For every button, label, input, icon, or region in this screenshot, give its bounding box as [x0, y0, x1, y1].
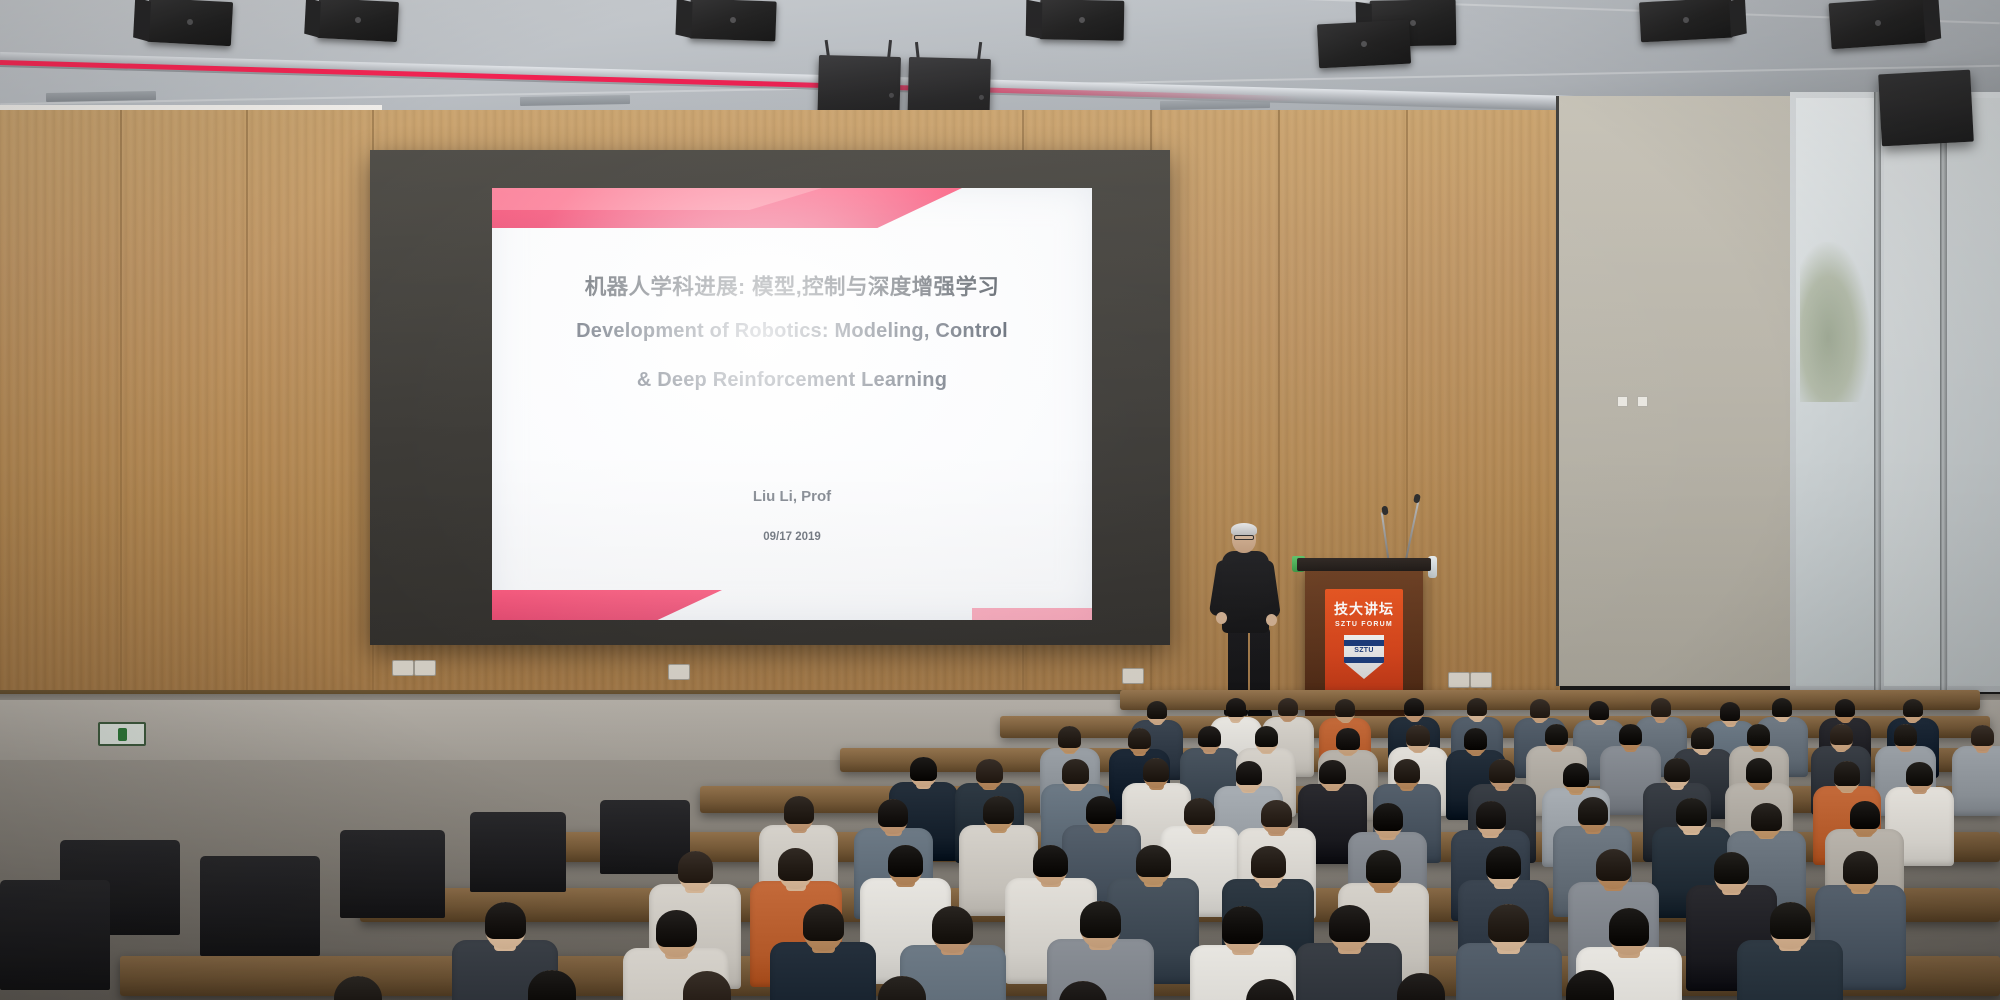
stage-light-fixture: [1317, 20, 1411, 69]
audience-member-hair: [1080, 901, 1121, 939]
audience-member-hair: [1486, 846, 1521, 878]
slide-title-english-1: Development of Robotics: Modeling, Contr…: [492, 320, 1092, 343]
stage-light-fixture: [1040, 0, 1125, 41]
shield-text: SZTU: [1344, 647, 1384, 654]
wall-outlet[interactable]: [392, 660, 414, 676]
audience-member-hair: [983, 796, 1013, 824]
audience-member: [1359, 973, 1484, 1000]
audience-member-hair: [1834, 761, 1860, 785]
auditorium-seat[interactable]: [340, 830, 445, 918]
audience-member-hair: [932, 906, 973, 944]
audience-member-hair: [1136, 845, 1171, 877]
slide-presenter: Liu Li, Prof: [492, 488, 1092, 505]
audience-member-hair: [528, 970, 576, 1000]
audience-member-hair: [1489, 759, 1515, 783]
audience-member-hair: [1394, 759, 1420, 783]
audience-member-hair: [1850, 801, 1880, 829]
audience-member-hair: [1563, 763, 1589, 787]
presentation-slide: 机器人学科进展: 模型,控制与深度增强学习 Development of Rob…: [492, 188, 1092, 620]
audience-member-hair: [656, 910, 697, 948]
audience-member-hair: [1464, 728, 1487, 749]
audience-member-hair: [1373, 803, 1403, 831]
audience-member-hair: [1751, 803, 1781, 831]
audience-member-hair: [784, 796, 814, 824]
audience-member-hair: [1406, 725, 1429, 746]
audience-member-hair: [1903, 699, 1923, 717]
audience-member-hair: [678, 851, 713, 883]
stage-light-fixture: [1639, 0, 1733, 42]
audience-member-hair: [910, 757, 936, 781]
presenter-glasses: [1234, 535, 1254, 540]
audience-member-hair: [1651, 698, 1671, 716]
wall-right-acoustic-panel: [1556, 96, 1792, 686]
audience-member-hair: [1476, 801, 1506, 829]
audience-member-hair: [1058, 726, 1081, 747]
audience-member-hair: [1906, 762, 1932, 786]
ceiling-vent: [520, 95, 630, 106]
audience-member-hair: [1566, 970, 1614, 1000]
stage-light-fixture: [317, 0, 399, 42]
audience-member-hair: [1843, 851, 1878, 883]
window-bay: [1790, 92, 2000, 692]
microphone-head: [1381, 506, 1388, 516]
audience-member-hair: [1691, 727, 1714, 748]
audience-member-hair: [1222, 906, 1263, 944]
audience-member-hair: [1830, 724, 1853, 745]
audience-member: [644, 971, 769, 1000]
lecture-hall-photo: 机器人学科进展: 模型,控制与深度增强学习 Development of Rob…: [0, 0, 2000, 1000]
audience-member: [1952, 725, 2000, 821]
audience-member-hair: [1404, 698, 1424, 716]
stage-light-fixture: [689, 0, 776, 41]
audience-member-hair: [1596, 849, 1631, 881]
presenter-hand: [1266, 614, 1277, 626]
audience-member-hair: [888, 845, 923, 877]
audience-member-hair: [1720, 702, 1740, 720]
slide-date: 09/17 2019: [492, 531, 1092, 543]
audience-member-hair: [1835, 699, 1855, 717]
audience-member-hair: [1184, 798, 1214, 826]
ceiling-vent: [46, 91, 156, 102]
presenter-torso: [1222, 551, 1269, 633]
audience-member-hair: [1770, 902, 1811, 940]
wall-switch-plate[interactable]: [1617, 396, 1648, 407]
audience-member: [1020, 981, 1145, 1000]
audience-member-hair: [1336, 728, 1359, 749]
audience-member-hair: [976, 759, 1002, 783]
auditorium-seat[interactable]: [200, 856, 320, 956]
window-glass: [1948, 98, 2000, 686]
audience-member-hair: [683, 971, 731, 1000]
audience-member-hair: [1971, 725, 1994, 746]
audience-member-hair: [485, 902, 526, 940]
wall-outlet[interactable]: [414, 660, 436, 676]
window-mullion: [1874, 92, 1881, 692]
audience-member-hair: [1329, 905, 1370, 943]
wall-outlet[interactable]: [1470, 672, 1492, 688]
podium-sign-english: SZTU FORUM: [1325, 621, 1403, 628]
audience-member: [489, 970, 614, 1000]
audience-member-hair: [1589, 701, 1609, 719]
window-glass: [1884, 98, 1940, 686]
audience-member-hair: [1033, 845, 1068, 877]
audience-member-hair: [1366, 850, 1401, 882]
audience-member-hair: [1147, 701, 1167, 719]
projection-screen-frame: 机器人学科进展: 模型,控制与深度增强学习 Development of Rob…: [370, 150, 1170, 645]
audience-member-hair: [1319, 760, 1345, 784]
audience-member-hair: [1255, 726, 1278, 747]
slide-title-english-2: & Deep Reinforcement Learning: [492, 369, 1092, 392]
audience-member-hair: [778, 848, 813, 880]
audience-member-hair: [1619, 724, 1642, 745]
audience-member-hair: [1246, 979, 1294, 1000]
wall-outlet[interactable]: [1122, 668, 1144, 684]
audience-member-hair: [1664, 758, 1690, 782]
audience-member: [296, 976, 421, 1000]
audience-member-hair: [1676, 798, 1706, 826]
audience-member-hair: [1894, 724, 1917, 745]
window-mullion: [1940, 92, 1947, 692]
audience-member-hair: [1467, 698, 1487, 716]
audience-member-hair: [1128, 728, 1151, 749]
podium-sign: 技大讲坛 SZTU FORUM SZTU: [1325, 589, 1403, 697]
audience-member-hair: [1609, 908, 1650, 946]
audience-member-hair: [1772, 698, 1792, 716]
auditorium-seat[interactable]: [470, 812, 566, 892]
exit-sign: [98, 722, 146, 746]
podium-sign-chinese: 技大讲坛: [1325, 602, 1403, 616]
audience-member-hair: [1397, 973, 1445, 1000]
window-foliage: [1800, 242, 1870, 402]
audience-member: [1528, 970, 1653, 1000]
audience-member-hair: [1488, 904, 1529, 942]
audience-member-hair: [1251, 846, 1286, 878]
audience-member-hair: [1086, 796, 1116, 824]
audience-member-hair: [1059, 981, 1107, 1000]
audience-member-hair: [1236, 761, 1262, 785]
audience-member-hair: [803, 904, 844, 942]
audience-member-hair: [1335, 699, 1355, 717]
audience-member-hair: [1714, 852, 1749, 884]
audience-member-hair: [1746, 758, 1772, 782]
stage-light-fixture: [1829, 0, 1928, 49]
audience-member-hair: [1198, 726, 1221, 747]
audience-member: [840, 976, 965, 1000]
stage-light-fixture: [147, 0, 233, 46]
slide-title-chinese: 机器人学科进展: 模型,控制与深度增强学习: [492, 270, 1092, 301]
audience-member-hair: [878, 976, 926, 1000]
university-shield-logo: SZTU: [1344, 635, 1384, 679]
audience-member-hair: [1545, 724, 1568, 745]
audience-member: [1737, 902, 1843, 1000]
audience-member-hair: [878, 799, 908, 827]
audience-member-hair: [1530, 699, 1550, 717]
audience-member-hair: [1226, 698, 1246, 716]
presenter-hand: [1216, 612, 1227, 624]
auditorium-seat[interactable]: [0, 880, 110, 990]
audience-member-torso: [1952, 746, 2000, 816]
audience-member-hair: [1143, 758, 1169, 782]
lectern-top: [1297, 558, 1431, 571]
wall-speaker-right: [1878, 70, 1974, 147]
wall-outlet[interactable]: [668, 664, 690, 680]
audience-member-hair: [1747, 724, 1770, 745]
audience-member-hair: [334, 976, 382, 1000]
audience-member-hair: [1578, 797, 1608, 825]
audience-member-hair: [1062, 759, 1088, 783]
wall-outlet[interactable]: [1448, 672, 1470, 688]
audience-member-hair: [1261, 800, 1291, 828]
audience-member-hair: [1278, 698, 1298, 716]
audience-member: [1208, 979, 1333, 1000]
